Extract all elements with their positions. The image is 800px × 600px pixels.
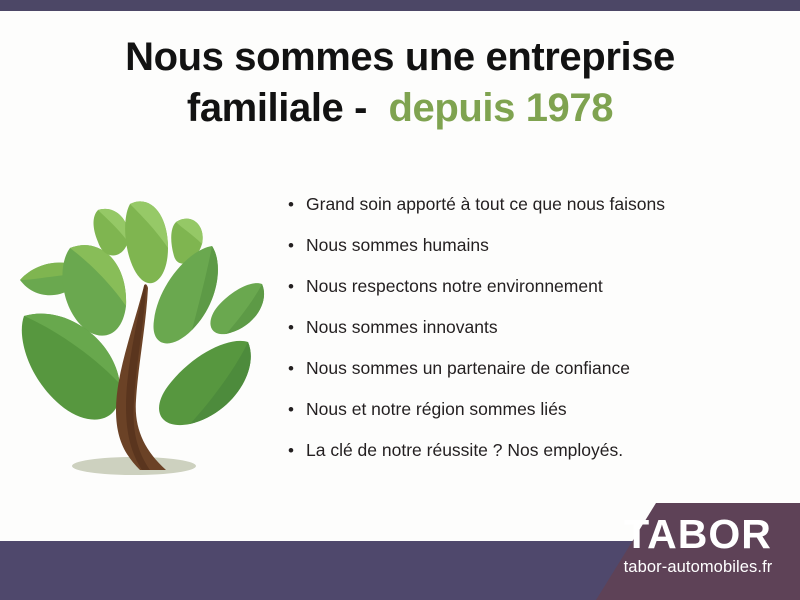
title-accent-since-year: depuis 1978 [388, 86, 613, 130]
bullet-marker-icon: • [288, 193, 306, 216]
list-item-label: Nous sommes innovants [306, 316, 498, 339]
list-item-label: Nous et notre région sommes liés [306, 398, 567, 421]
list-item: • Nous sommes un partenaire de confiance [288, 357, 758, 398]
brand-logo-panel[interactable]: TABOR tabor-automobiles.fr [560, 500, 800, 600]
list-item: • Nous respectons notre environnement [288, 275, 758, 316]
leaf-right-small [210, 283, 264, 334]
logo-tagline: tabor-automobiles.fr [598, 558, 798, 577]
title-line-1: Nous sommes une entreprise [0, 34, 800, 81]
list-item: • La clé de notre réussite ? Nos employé… [288, 439, 758, 480]
title-dash: - [354, 86, 367, 130]
bullet-marker-icon: • [288, 275, 306, 298]
leaf-lower-right [159, 341, 251, 425]
logo-text-group: TABOR tabor-automobiles.fr [560, 500, 800, 600]
list-item-label: Nous sommes humains [306, 234, 489, 257]
top-accent-bar [0, 0, 800, 11]
list-item: • Nous sommes innovants [288, 316, 758, 357]
list-item: • Nous sommes humains [288, 234, 758, 275]
tree-illustration-svg [16, 188, 276, 488]
list-item-label: Grand soin apporté à tout ce que nous fa… [306, 193, 665, 216]
tree-illustration [16, 188, 276, 488]
bullet-marker-icon: • [288, 234, 306, 257]
bullet-marker-icon: • [288, 357, 306, 380]
bullet-marker-icon: • [288, 439, 306, 462]
logo-wordmark: TABOR [598, 512, 798, 556]
slide-canvas: Nous sommes une entreprise familiale - d… [0, 0, 800, 600]
title-line-2: familiale - depuis 1978 [0, 85, 800, 132]
bullet-marker-icon: • [288, 398, 306, 421]
list-item-label: La clé de notre réussite ? Nos employés. [306, 439, 623, 462]
list-item: • Nous et notre région sommes liés [288, 398, 758, 439]
leaf-top-center [125, 201, 168, 283]
bullet-marker-icon: • [288, 316, 306, 339]
list-item-label: Nous sommes un partenaire de confiance [306, 357, 630, 380]
value-list: • Grand soin apporté à tout ce que nous … [288, 193, 758, 480]
list-item: • Grand soin apporté à tout ce que nous … [288, 193, 758, 234]
page-title: Nous sommes une entreprise familiale - d… [0, 34, 800, 132]
title-word-familiale: familiale [187, 86, 343, 130]
list-item-label: Nous respectons notre environnement [306, 275, 603, 298]
